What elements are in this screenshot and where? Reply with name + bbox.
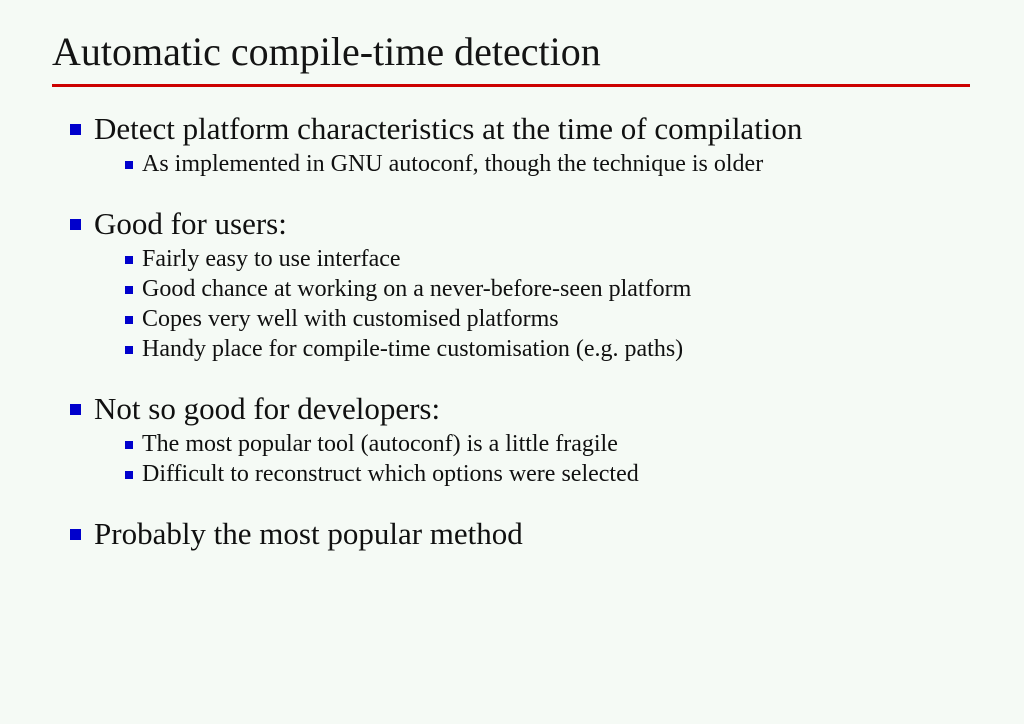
square-bullet-icon [125, 286, 133, 294]
bullet-level2: The most popular tool (autoconf) is a li… [70, 429, 990, 459]
bullet-level1: Not so good for developers: [70, 390, 990, 427]
bullet-group: Not so good for developers: The most pop… [70, 390, 990, 489]
bullet-level2-label: Difficult to reconstruct which options w… [142, 459, 990, 489]
bullet-level1-label: Probably the most popular method [94, 515, 990, 552]
page-title: Automatic compile-time detection [52, 28, 972, 76]
square-bullet-icon [125, 256, 133, 264]
bullet-level2-list: The most popular tool (autoconf) is a li… [70, 429, 990, 489]
bullet-level1: Good for users: [70, 205, 990, 242]
bullet-level1-label: Good for users: [94, 205, 990, 242]
bullet-level1-label: Detect platform characteristics at the t… [94, 110, 990, 147]
bullet-group: Probably the most popular method [70, 515, 990, 552]
square-bullet-icon [70, 404, 81, 415]
title-underline-rule [52, 84, 970, 87]
square-bullet-icon [70, 124, 81, 135]
bullet-level2-label: The most popular tool (autoconf) is a li… [142, 429, 990, 459]
bullet-level2: Fairly easy to use interface [70, 244, 990, 274]
square-bullet-icon [125, 316, 133, 324]
square-bullet-icon [70, 219, 81, 230]
slide: Automatic compile-time detection Detect … [0, 0, 1024, 724]
bullet-group: Good for users: Fairly easy to use inter… [70, 205, 990, 364]
bullet-level2-label: Handy place for compile-time customisati… [142, 334, 990, 364]
bullet-level2-list: As implemented in GNU autoconf, though t… [70, 149, 990, 179]
bullet-group: Detect platform characteristics at the t… [70, 110, 990, 179]
square-bullet-icon [125, 441, 133, 449]
bullet-level2-label: Good chance at working on a never-before… [142, 274, 990, 304]
bullet-level2: Difficult to reconstruct which options w… [70, 459, 990, 489]
bullet-level2-label: As implemented in GNU autoconf, though t… [142, 149, 990, 179]
bullet-level2: Handy place for compile-time customisati… [70, 334, 990, 364]
bullet-level2: As implemented in GNU autoconf, though t… [70, 149, 990, 179]
square-bullet-icon [125, 471, 133, 479]
square-bullet-icon [70, 529, 81, 540]
bullet-level1: Probably the most popular method [70, 515, 990, 552]
square-bullet-icon [125, 161, 133, 169]
bullet-level2: Copes very well with customised platform… [70, 304, 990, 334]
bullet-level2-label: Fairly easy to use interface [142, 244, 990, 274]
bullet-level1-label: Not so good for developers: [94, 390, 990, 427]
bullet-level2: Good chance at working on a never-before… [70, 274, 990, 304]
title-block: Automatic compile-time detection [52, 28, 972, 87]
bullet-level2-list: Fairly easy to use interface Good chance… [70, 244, 990, 364]
bullet-level2-label: Copes very well with customised platform… [142, 304, 990, 334]
slide-body: Detect platform characteristics at the t… [70, 110, 990, 552]
square-bullet-icon [125, 346, 133, 354]
bullet-level1: Detect platform characteristics at the t… [70, 110, 990, 147]
